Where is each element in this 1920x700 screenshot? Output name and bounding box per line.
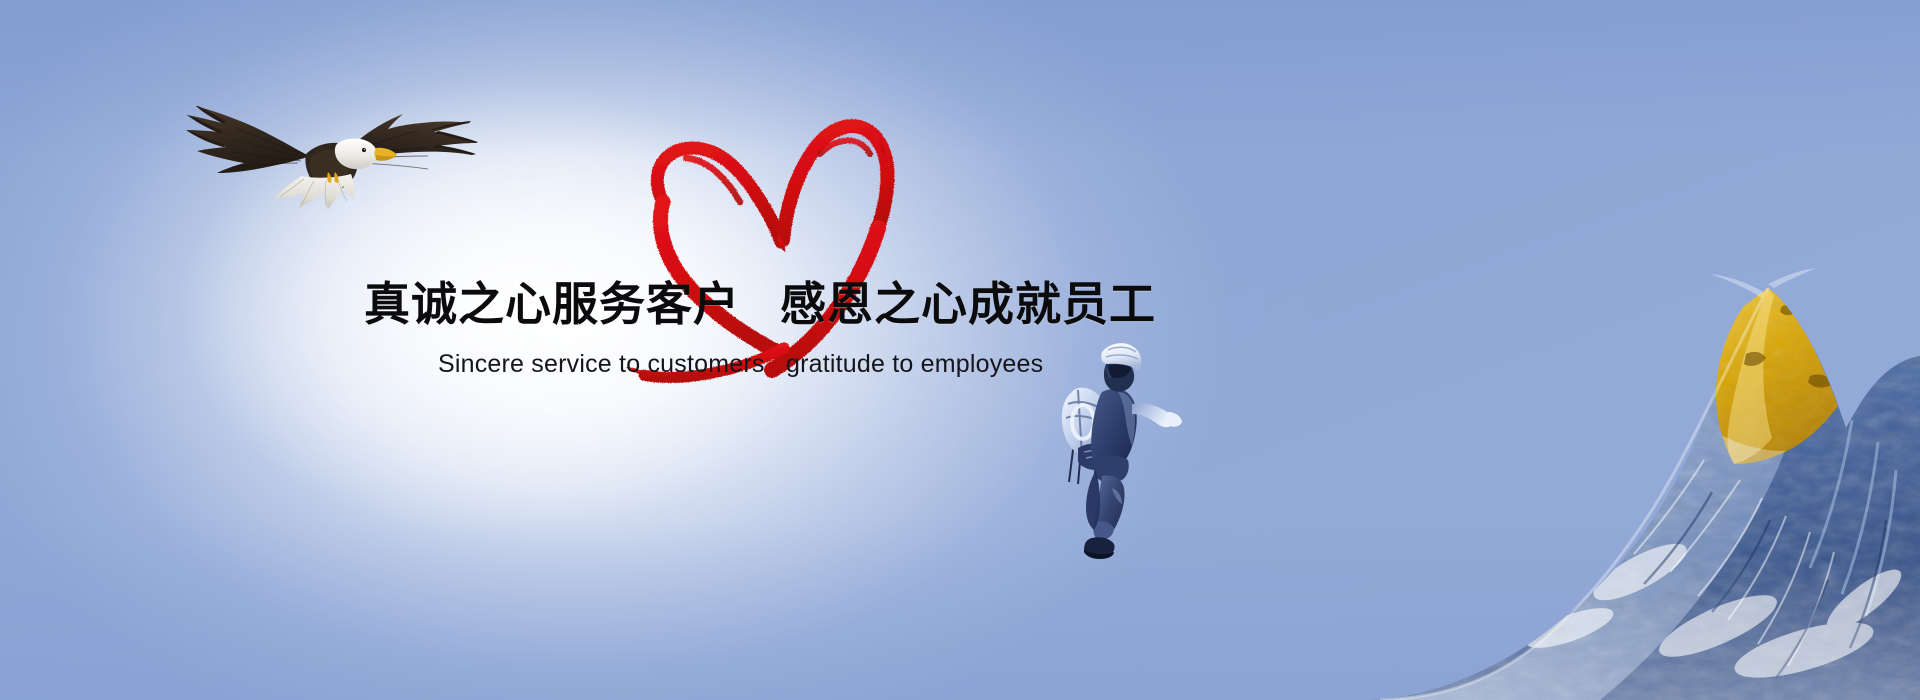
eagle-icon xyxy=(178,86,478,221)
heart-icon xyxy=(608,62,938,392)
corporate-culture-banner: 真诚之心服务客户 感恩之心成就员工 Sincere service to cus… xyxy=(0,0,1920,700)
subtitle-english: Sincere service to customers gratitude t… xyxy=(438,348,1043,380)
climber-icon xyxy=(1056,330,1186,560)
